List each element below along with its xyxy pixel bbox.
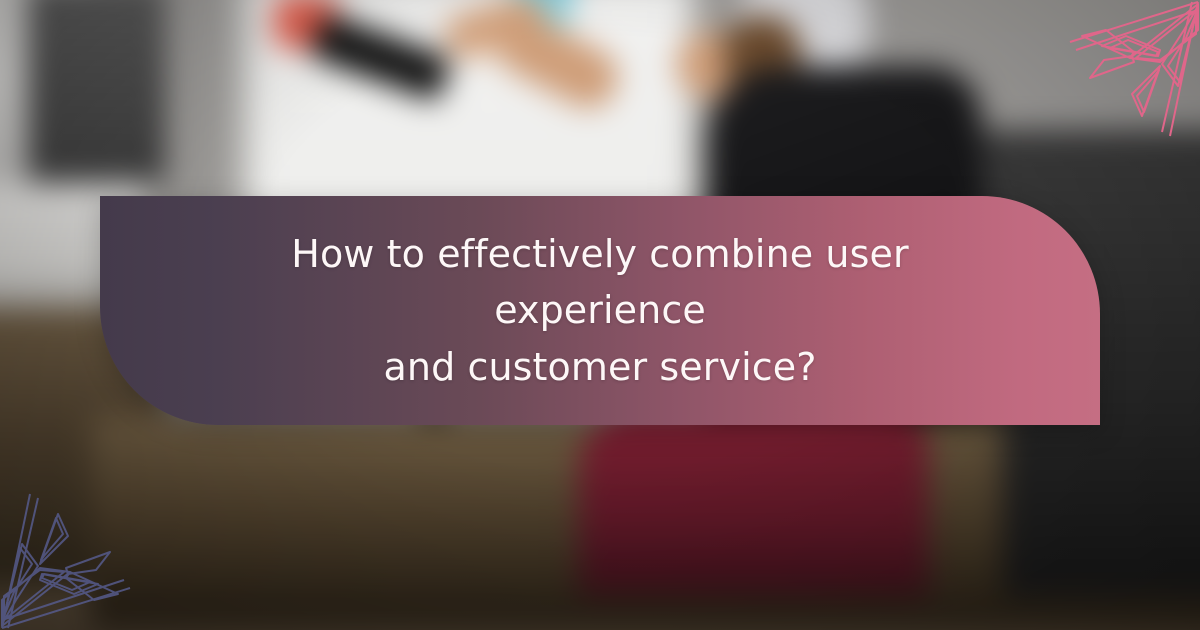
share-card: How to effectively combine user experien…: [0, 0, 1200, 630]
headline-text: How to effectively combine user experien…: [220, 226, 980, 395]
headline-line-2: and customer service?: [384, 345, 817, 389]
headline-line-1: How to effectively combine user experien…: [291, 232, 908, 332]
headline-banner: How to effectively combine user experien…: [100, 196, 1100, 425]
